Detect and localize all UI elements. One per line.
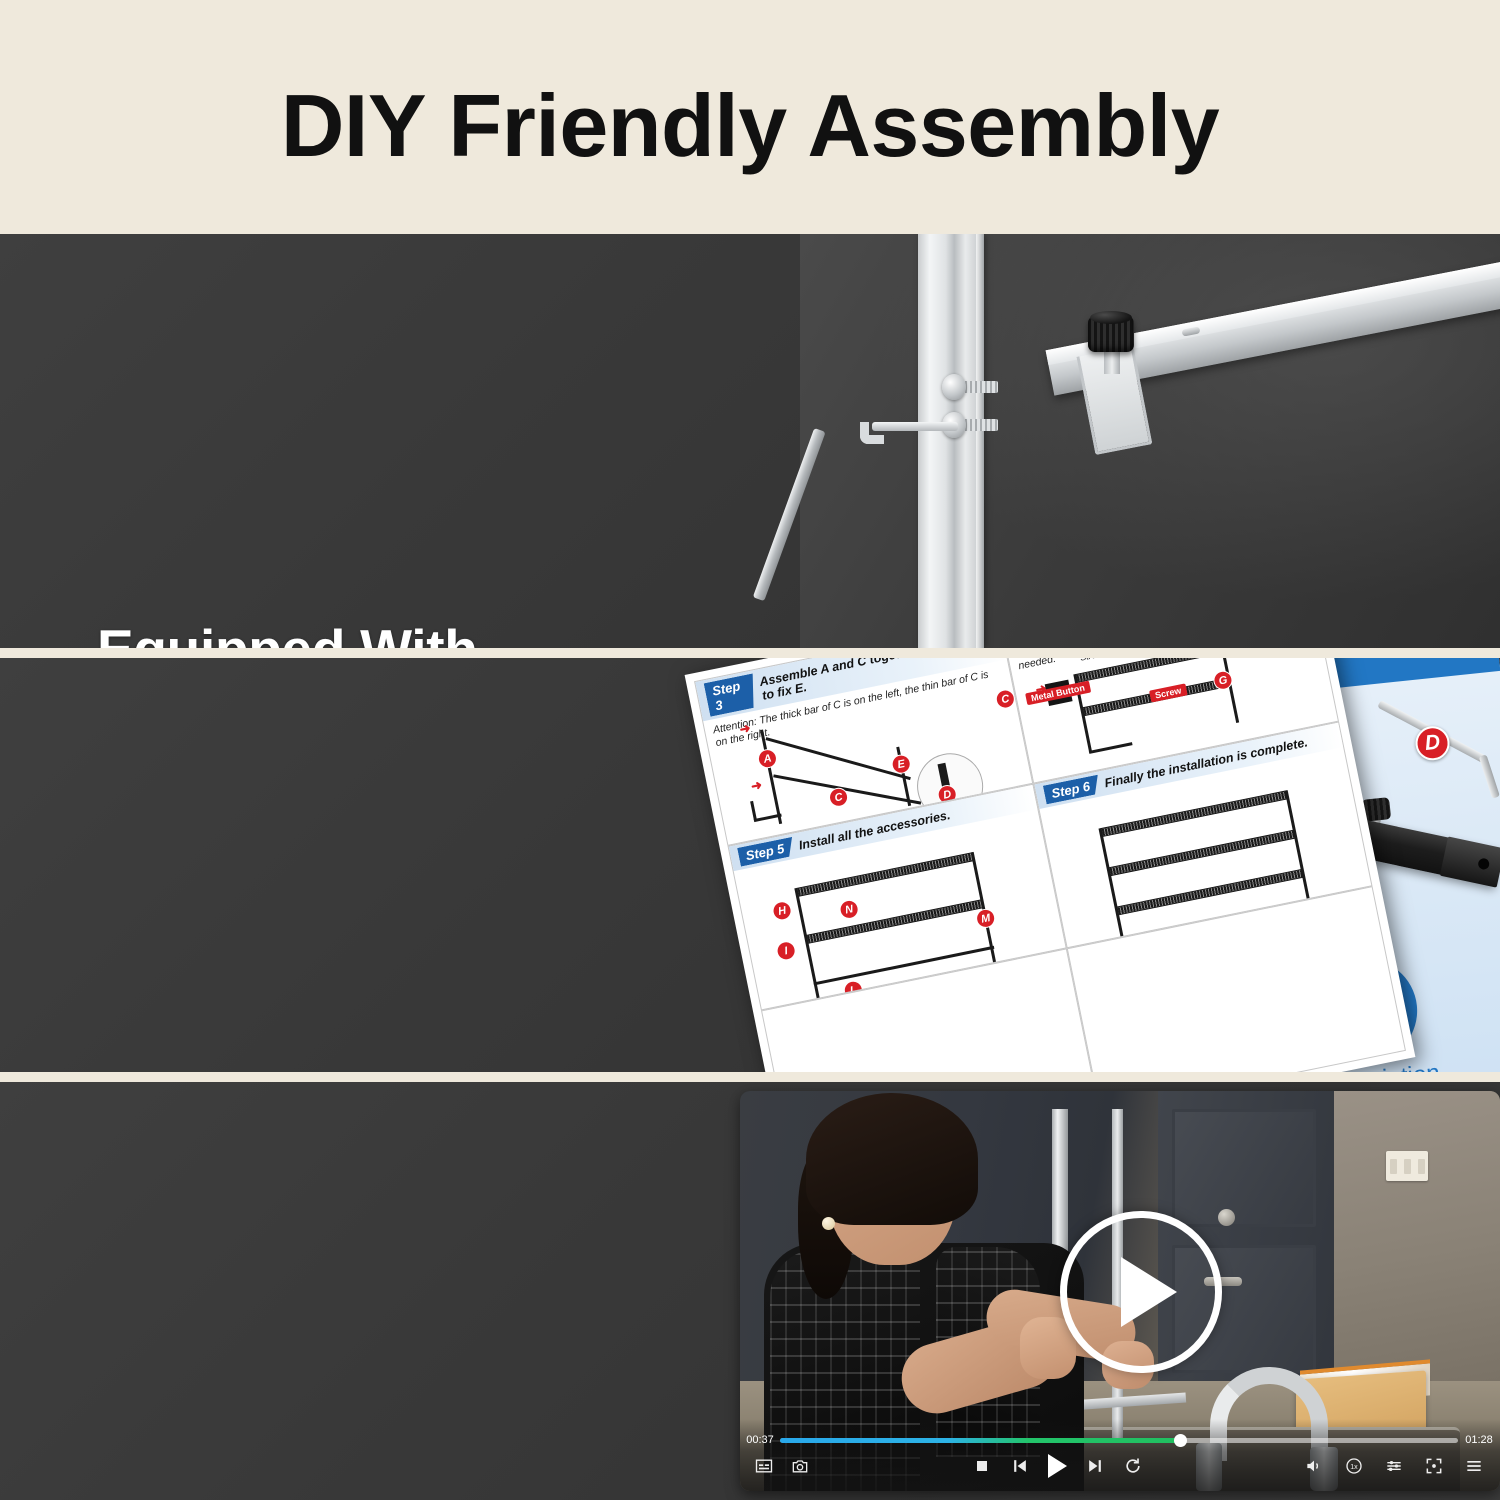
step-3-tag: Step 3 <box>704 673 760 716</box>
step-6-tag: Step 6 <box>1043 775 1102 805</box>
video-progress-track[interactable] <box>780 1438 1458 1443</box>
step-5-tag: Step 5 <box>737 837 796 867</box>
earring-icon <box>822 1217 835 1230</box>
panel-installation-tools: Equipped With Installation Tools <box>0 234 1500 648</box>
hex-key-long-arm <box>753 428 826 601</box>
replay-icon[interactable] <box>1123 1456 1143 1476</box>
marker-h: H <box>771 900 793 922</box>
marker-m: M <box>974 907 996 929</box>
equalizer-icon[interactable] <box>1384 1456 1404 1476</box>
fullscreen-icon[interactable] <box>1424 1456 1444 1476</box>
video-progress-fill <box>780 1438 1180 1443</box>
video-total-time: 01:28 <box>1458 1434 1500 1446</box>
screenshot-camera-icon[interactable] <box>790 1456 810 1476</box>
video-controls-bar: 00:37 01:28 <box>740 1419 1500 1491</box>
video-right-controls: 1x <box>1304 1456 1500 1476</box>
video-play-overlay-button[interactable] <box>1060 1211 1222 1373</box>
video-player[interactable]: 00:37 01:28 <box>740 1091 1500 1491</box>
door-lock-icon <box>1218 1209 1235 1226</box>
stop-icon[interactable] <box>972 1456 992 1476</box>
marker-d: D <box>1414 725 1451 762</box>
subtitles-icon[interactable] <box>754 1456 774 1476</box>
marker-i: I <box>775 940 797 962</box>
video-right-wall <box>1334 1091 1500 1383</box>
page-title: DIY Friendly Assembly <box>281 82 1219 170</box>
volume-icon[interactable] <box>1304 1456 1324 1476</box>
vertical-post <box>918 234 984 648</box>
page-hex-key-tip <box>1479 754 1500 798</box>
light-switch-icon <box>1386 1151 1428 1181</box>
previous-icon[interactable] <box>1010 1456 1030 1476</box>
video-buttons-row: 1x <box>740 1451 1500 1481</box>
playlist-menu-icon[interactable] <box>1464 1456 1484 1476</box>
panel-installation-manual: bar out. D Appreciation <box>0 658 1500 1072</box>
play-button-icon[interactable] <box>1048 1454 1067 1478</box>
video-center-controls <box>810 1454 1304 1478</box>
divider-1 <box>0 648 1500 658</box>
manual-sheet: You can pull the thin bar of C to the ri… <box>685 658 1416 1072</box>
divider-2 <box>0 1072 1500 1082</box>
product-infographic: DIY Friendly Assembly Equipped With Inst… <box>0 0 1500 1500</box>
header-banner: DIY Friendly Assembly <box>0 0 1500 234</box>
adjustment-knob-icon <box>1088 316 1134 352</box>
panel-installation-video: 00:37 01:28 <box>0 1082 1500 1500</box>
next-icon[interactable] <box>1085 1456 1105 1476</box>
hex-key-bend <box>860 422 884 444</box>
video-progress-handle[interactable] <box>1174 1434 1187 1447</box>
video-left-controls <box>740 1456 810 1476</box>
video-seek-row: 00:37 01:28 <box>740 1433 1500 1447</box>
marker-n: N <box>838 898 860 920</box>
person-hair <box>806 1093 978 1225</box>
marker-a: A <box>756 747 778 769</box>
knob-stem <box>1104 352 1120 374</box>
tools-label-line1: Equipped With <box>97 616 540 648</box>
bolt-upper <box>942 374 998 400</box>
svg-text:1x: 1x <box>1350 1463 1358 1471</box>
hex-key-short-arm <box>872 422 958 431</box>
playback-speed-icon[interactable]: 1x <box>1344 1456 1364 1476</box>
play-icon <box>1121 1257 1177 1327</box>
video-current-time: 00:37 <box>740 1434 780 1446</box>
tools-photo <box>800 234 1500 648</box>
panel-label-tools: Equipped With Installation Tools <box>97 616 540 648</box>
manual-photo: bar out. D Appreciation <box>740 658 1500 1072</box>
